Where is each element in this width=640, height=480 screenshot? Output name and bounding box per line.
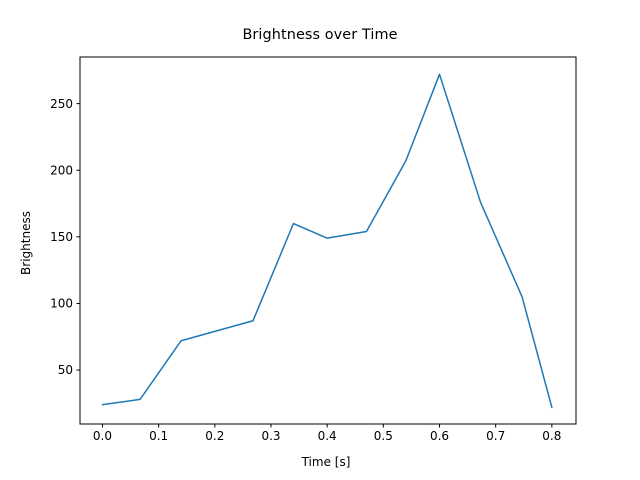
- data-line-brightness: [102, 74, 551, 407]
- x-axis-ticks: 0.00.10.20.30.40.50.60.70.8: [93, 424, 561, 443]
- x-tick-label: 0.5: [374, 429, 393, 443]
- y-axis-label: Brightness: [19, 211, 33, 275]
- plot-area-svg: 0.00.10.20.30.40.50.60.70.8 501001502002…: [0, 0, 640, 480]
- y-tick-label: 150: [50, 230, 73, 244]
- x-tick-label: 0.7: [486, 429, 505, 443]
- y-tick-label: 100: [50, 297, 73, 311]
- y-axis-ticks: 50100150200250: [50, 97, 80, 377]
- x-tick-label: 0.4: [318, 429, 337, 443]
- data-line-group: [102, 74, 551, 407]
- axes-frame: [80, 57, 576, 424]
- y-tick-label: 250: [50, 97, 73, 111]
- y-tick-label: 200: [50, 163, 73, 177]
- x-tick-label: 0.2: [205, 429, 224, 443]
- x-tick-label: 0.1: [149, 429, 168, 443]
- x-axis-label: Time [s]: [301, 455, 351, 469]
- x-tick-label: 0.6: [430, 429, 449, 443]
- x-tick-label: 0.8: [542, 429, 561, 443]
- y-tick-label: 50: [58, 363, 73, 377]
- matplotlib-figure: Brightness over Time 0.00.10.20.30.40.50…: [0, 0, 640, 480]
- x-tick-label: 0.0: [93, 429, 112, 443]
- x-tick-label: 0.3: [261, 429, 280, 443]
